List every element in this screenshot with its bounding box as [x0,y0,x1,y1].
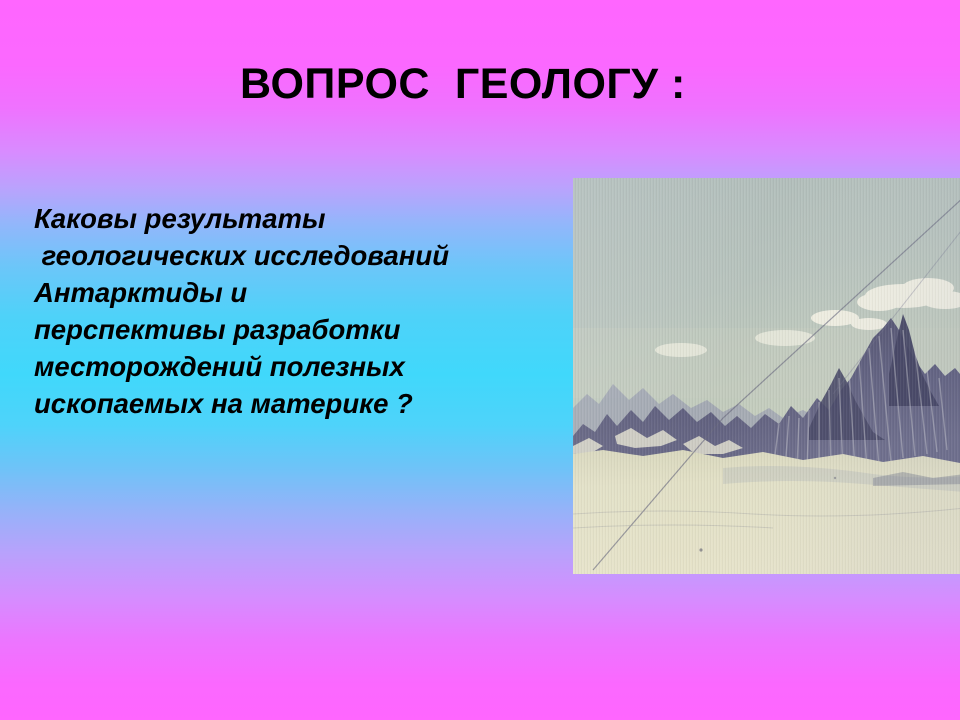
question-line: ископаемых на материке ? [34,385,534,422]
page-title: ВОПРОС ГЕОЛОГУ : [240,62,686,107]
question-text-block: Каковы результаты геологических исследов… [34,200,534,422]
question-line: месторождений полезных [34,348,534,385]
question-line: Каковы результаты [34,200,534,237]
question-line: геологических исследований [34,237,534,274]
question-line: перспективы разработки [34,311,534,348]
antarctic-mountain-range-photo [573,178,960,574]
presentation-slide: ВОПРОС ГЕОЛОГУ : Каковы результаты геоло… [0,0,960,720]
question-line: Антарктиды и [34,274,534,311]
